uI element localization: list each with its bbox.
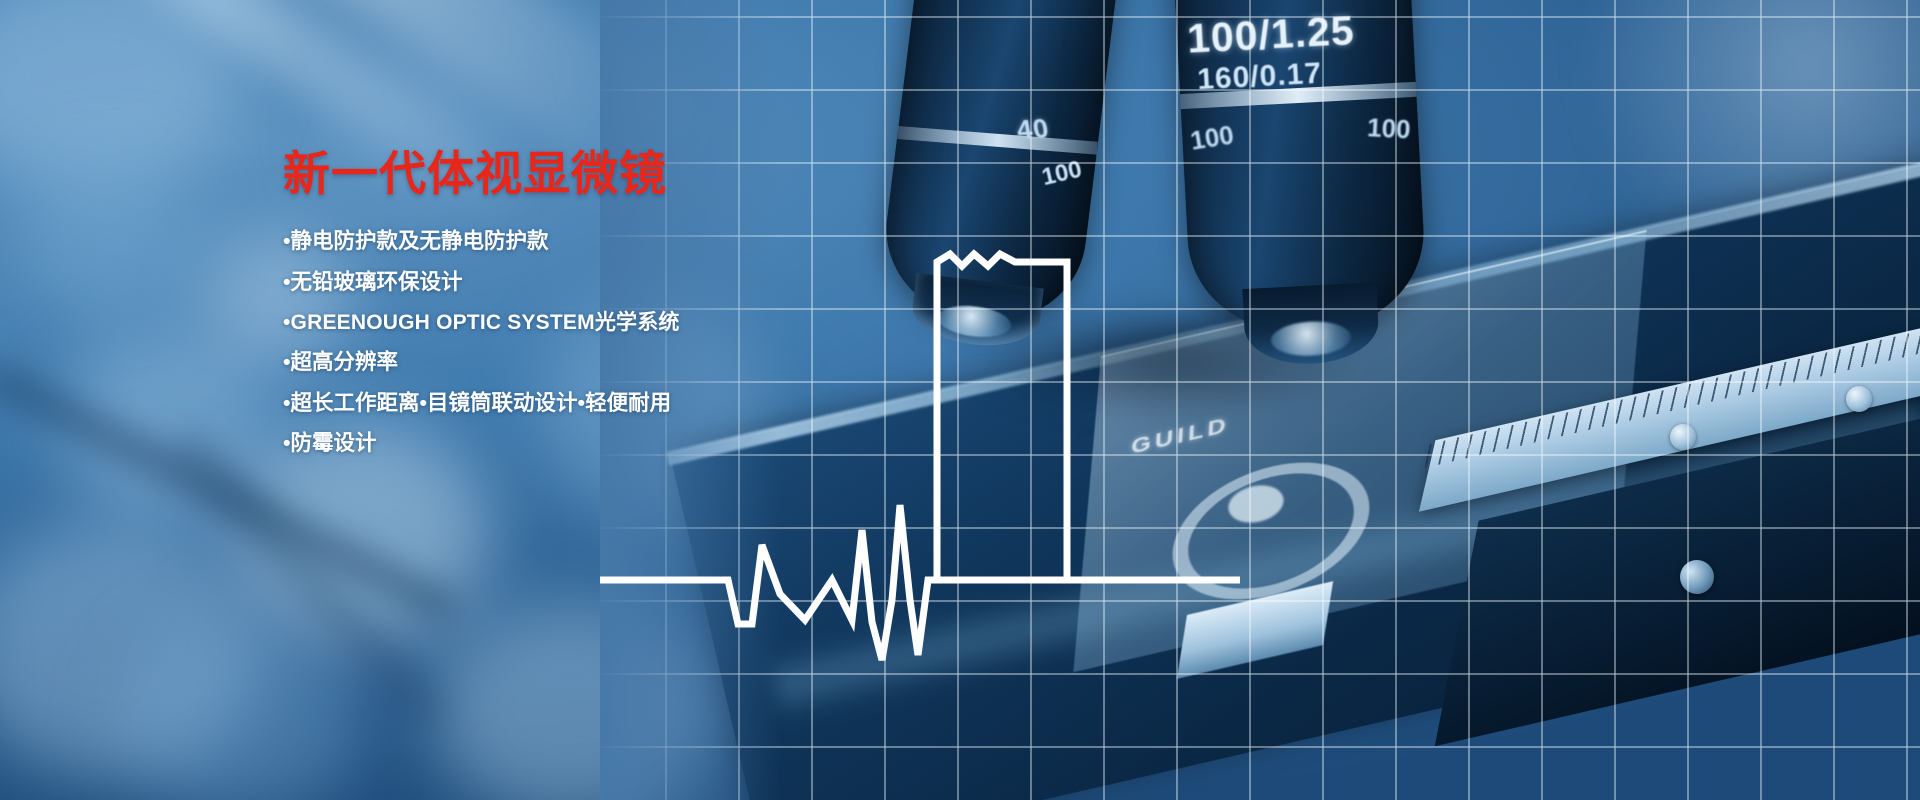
objective-lens-right: 100/1.25 160/0.17 100 100: [1168, 0, 1429, 336]
list-item: •防霉设计: [283, 433, 843, 455]
ruler-screw: [1670, 424, 1696, 450]
list-item: •超长工作距离•目镜筒联动设计•轻便耐用: [283, 393, 843, 415]
microscope-scene: GUILD 40 100 100/1.25 160/0.17 100 100: [660, 0, 1920, 800]
objective-aperture-label: 100/1.25: [1186, 7, 1356, 63]
copy-block: 新一代体视显微镜 •静电防护款及无静电防护款 •无铅玻璃环保设计 •GREENO…: [283, 150, 843, 474]
page-title: 新一代体视显微镜: [283, 150, 843, 197]
objective-bottom-marking-left: 100: [1188, 119, 1236, 156]
list-item: •静电防护款及无静电防护款: [283, 231, 843, 253]
list-item: •超高分辨率: [283, 352, 843, 374]
list-item: •无铅玻璃环保设计: [283, 272, 843, 294]
objective-magnification-label: 40: [1015, 113, 1052, 145]
feature-list: •静电防护款及无静电防护款 •无铅玻璃环保设计 •GREENOUGH OPTIC…: [283, 231, 843, 455]
ruler-screw: [1846, 386, 1872, 412]
promo-banner: GUILD 40 100 100/1.25 160/0.17 100 100: [0, 0, 1920, 800]
list-item: •GREENOUGH OPTIC SYSTEM光学系统: [283, 312, 843, 333]
objective-bottom-marking-right: 100: [1366, 112, 1411, 145]
objective-ring: [897, 126, 1097, 155]
objective-bottom-marking: 100: [1039, 156, 1084, 192]
objective-lens-left: 40 100: [876, 0, 1123, 331]
